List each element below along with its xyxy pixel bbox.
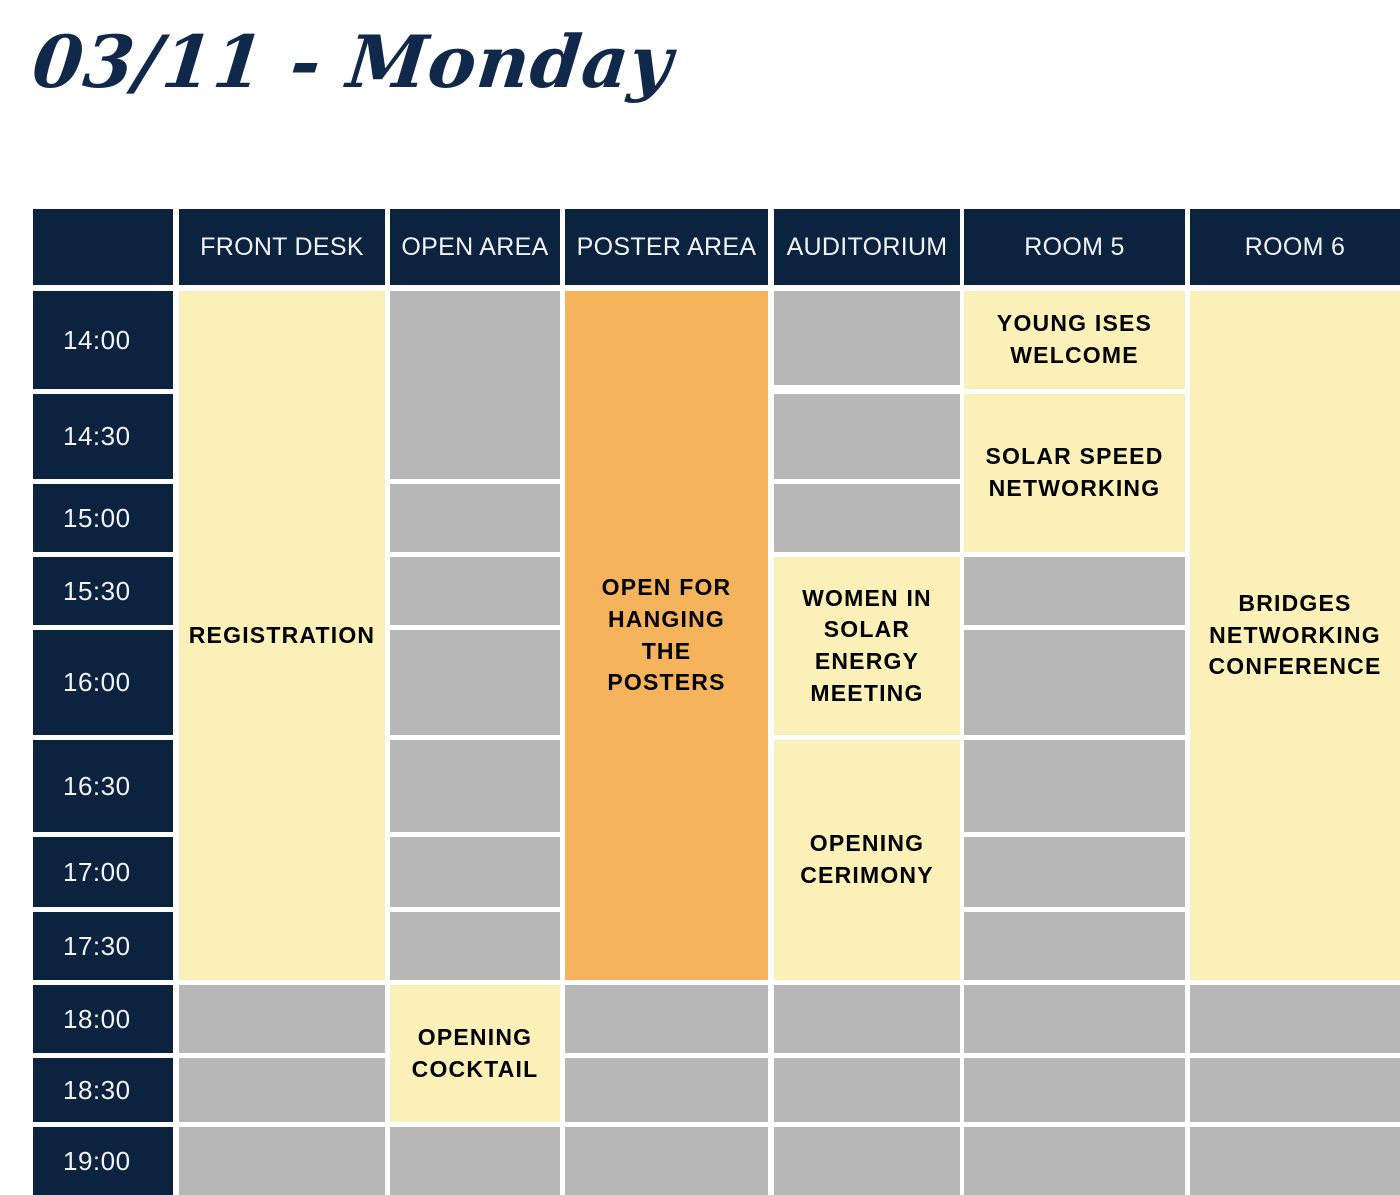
time-label-1500: 15:00: [33, 484, 173, 552]
header-corner-blank: [33, 209, 173, 285]
empty-slot-auditorium-1800[interactable]: [774, 985, 960, 1053]
event-bridges-networking-conference[interactable]: BRIDGES NETWORKING CONFERENCE: [1190, 291, 1400, 980]
time-label-1430: 14:30: [33, 394, 173, 479]
empty-slot-open-area-1700[interactable]: [390, 837, 560, 907]
event-label-line1: YOUNG ISES: [997, 308, 1152, 340]
time-label-1900: 19:00: [33, 1127, 173, 1195]
event-opening-ceremony[interactable]: OPENING CERIMONY: [774, 740, 960, 980]
empty-slot-auditorium-1900[interactable]: [774, 1127, 960, 1195]
empty-slot-front-desk-1800[interactable]: [179, 985, 385, 1053]
event-label-line1: OPENING: [800, 828, 934, 860]
event-label-line1: WOMEN IN: [802, 583, 932, 615]
time-label-1730: 17:30: [33, 912, 173, 980]
event-poster-hanging[interactable]: OPEN FOR HANGING THE POSTERS: [565, 291, 768, 980]
empty-slot-poster-area-1800[interactable]: [565, 985, 768, 1053]
event-label-line3: ENERGY: [802, 646, 932, 678]
empty-slot-room-5-1830[interactable]: [964, 1058, 1185, 1122]
empty-slot-room-5-1730[interactable]: [964, 912, 1185, 980]
column-header-open-area: OPEN AREA: [390, 209, 560, 285]
empty-slot-poster-area-1900[interactable]: [565, 1127, 768, 1195]
time-label-1600: 16:00: [33, 630, 173, 735]
empty-slot-front-desk-1830[interactable]: [179, 1058, 385, 1122]
empty-slot-room-5-1900[interactable]: [964, 1127, 1185, 1195]
time-label-1630: 16:30: [33, 740, 173, 832]
empty-slot-room-5-1530[interactable]: [964, 557, 1185, 625]
event-label-line2: NETWORKING: [1208, 620, 1381, 652]
event-opening-cocktail[interactable]: OPENING COCKTAIL: [390, 985, 560, 1122]
event-label-line1: BRIDGES: [1208, 588, 1381, 620]
empty-slot-auditorium-1430[interactable]: [774, 394, 960, 479]
event-label-line3: THE: [602, 636, 732, 668]
event-label-line1: OPENING: [412, 1022, 539, 1054]
event-label-line3: CONFERENCE: [1208, 651, 1381, 683]
empty-slot-auditorium-1830[interactable]: [774, 1058, 960, 1122]
empty-slot-room-5-1700[interactable]: [964, 837, 1185, 907]
event-label-line2: SOLAR: [802, 614, 932, 646]
event-label-line2: HANGING: [602, 604, 732, 636]
empty-slot-room-5-1800[interactable]: [964, 985, 1185, 1053]
schedule-page: 03/11 - Monday FRONT DESK OPEN AREA POST…: [0, 0, 1400, 1195]
event-label-line1: OPEN FOR: [602, 572, 732, 604]
time-label-1700: 17:00: [33, 837, 173, 907]
empty-slot-open-area-1900[interactable]: [390, 1127, 560, 1195]
empty-slot-open-area-1500[interactable]: [390, 484, 560, 552]
event-label-line1: SOLAR SPEED: [985, 441, 1163, 473]
schedule-grid: FRONT DESK OPEN AREA POSTER AREA AUDITOR…: [0, 0, 1400, 1195]
event-young-ises-welcome[interactable]: YOUNG ISES WELCOME: [964, 291, 1185, 389]
empty-slot-room-5-1630[interactable]: [964, 740, 1185, 832]
empty-slot-room-6-1800[interactable]: [1190, 985, 1400, 1053]
event-label-line2: COCKTAIL: [412, 1054, 539, 1086]
empty-slot-open-area-1400[interactable]: [390, 291, 560, 479]
empty-slot-open-area-1530[interactable]: [390, 557, 560, 625]
event-label-line4: POSTERS: [602, 667, 732, 699]
time-label-1400: 14:00: [33, 291, 173, 389]
column-header-room-6: ROOM 6: [1190, 209, 1400, 285]
time-label-1530: 15:30: [33, 557, 173, 625]
empty-slot-poster-area-1830[interactable]: [565, 1058, 768, 1122]
empty-slot-front-desk-1900[interactable]: [179, 1127, 385, 1195]
event-women-in-solar-energy-meeting[interactable]: WOMEN IN SOLAR ENERGY MEETING: [774, 557, 960, 735]
event-label-line2: WELCOME: [997, 340, 1152, 372]
event-label-line2: NETWORKING: [985, 473, 1163, 505]
event-label-line2: CERIMONY: [800, 860, 934, 892]
event-registration[interactable]: REGISTRATION: [179, 291, 385, 980]
time-label-1830: 18:30: [33, 1058, 173, 1122]
event-solar-speed-networking[interactable]: SOLAR SPEED NETWORKING: [964, 394, 1185, 552]
empty-slot-open-area-1600[interactable]: [390, 630, 560, 735]
column-header-room-5: ROOM 5: [964, 209, 1185, 285]
empty-slot-open-area-1630[interactable]: [390, 740, 560, 832]
empty-slot-auditorium-1400[interactable]: [774, 291, 960, 385]
time-label-1800: 18:00: [33, 985, 173, 1053]
event-label-line4: MEETING: [802, 678, 932, 710]
event-label: REGISTRATION: [189, 620, 375, 652]
empty-slot-room-6-1830[interactable]: [1190, 1058, 1400, 1122]
column-header-auditorium: AUDITORIUM: [774, 209, 960, 285]
empty-slot-room-5-1600[interactable]: [964, 630, 1185, 735]
column-header-poster-area: POSTER AREA: [565, 209, 768, 285]
empty-slot-auditorium-1500[interactable]: [774, 484, 960, 552]
empty-slot-open-area-1730[interactable]: [390, 912, 560, 980]
column-header-front-desk: FRONT DESK: [179, 209, 385, 285]
empty-slot-room-6-1900[interactable]: [1190, 1127, 1400, 1195]
